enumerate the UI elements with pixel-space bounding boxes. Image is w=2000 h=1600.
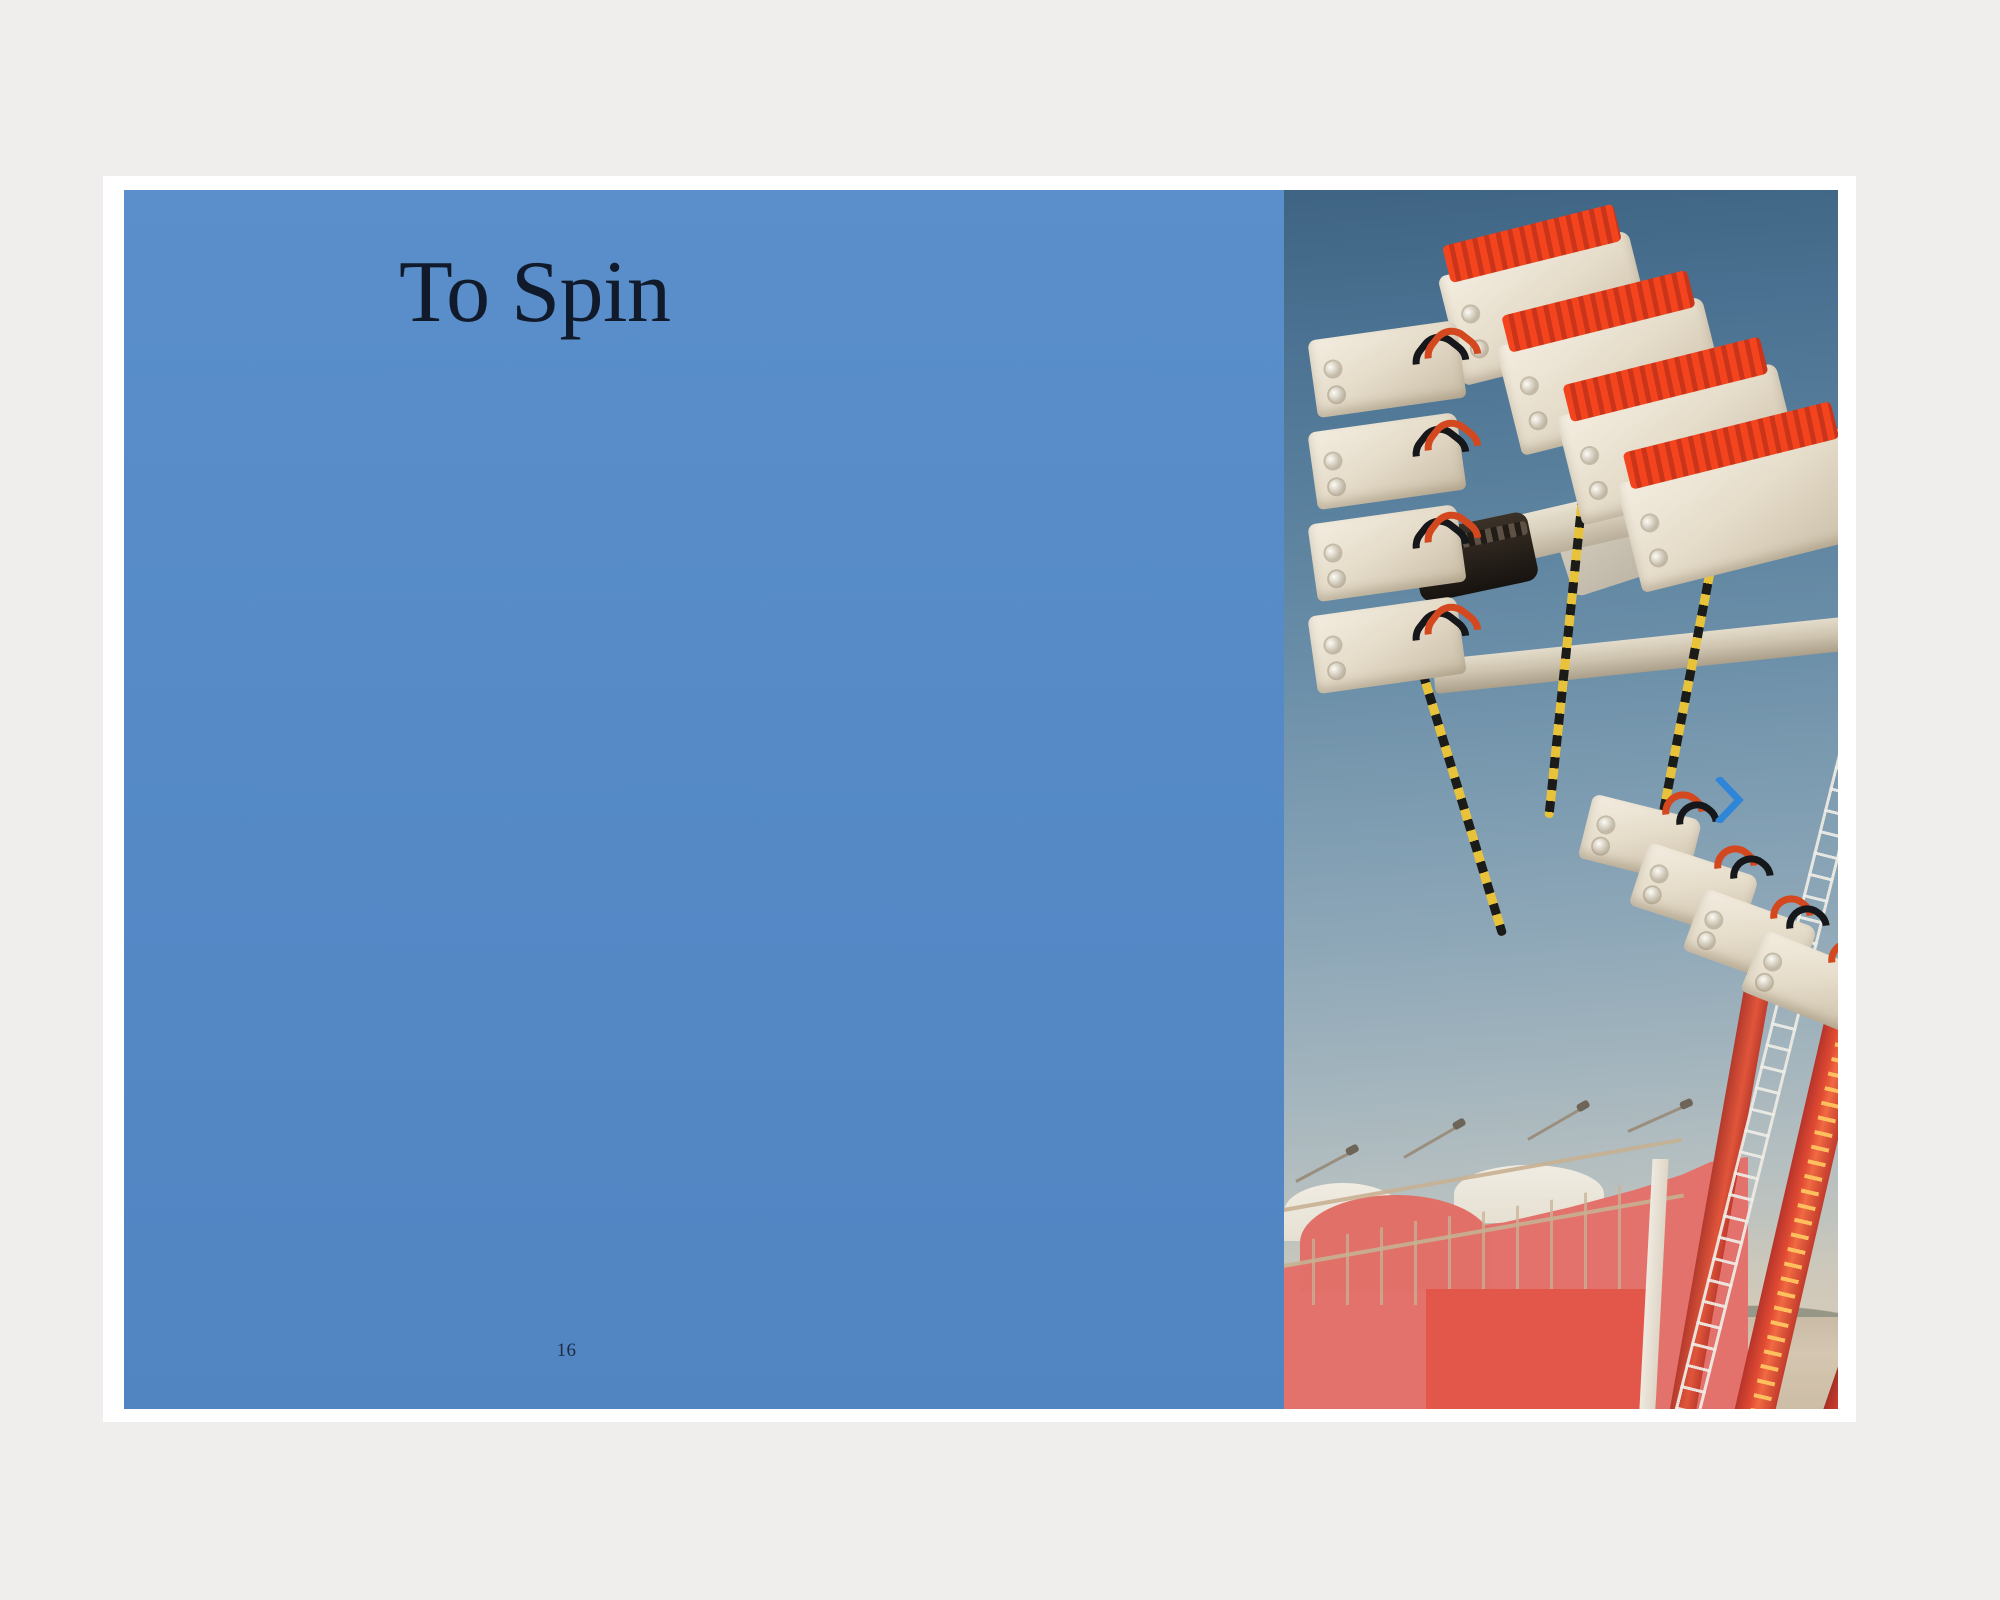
right-page-photo[interactable] [1284, 190, 1838, 1409]
gondola-bolt [1597, 816, 1615, 834]
gondola-bolt [1697, 931, 1716, 950]
gondola-bolt [1328, 386, 1345, 403]
gondola-bolt [1589, 481, 1607, 499]
gondola-cluster-lower [1614, 710, 1838, 1050]
gondola-bolt [1328, 478, 1345, 495]
gondola-bolt [1581, 446, 1599, 464]
gondola-bolt [1325, 453, 1342, 470]
gondola-bolt [1325, 545, 1342, 562]
gondola-bolt [1592, 837, 1610, 855]
gondola-bolt [1755, 973, 1775, 993]
chevron-right-icon [1715, 777, 1745, 823]
page-spread: To Spin 16 [124, 190, 1838, 1409]
book-viewer: To Spin 16 [0, 0, 2000, 1600]
gondola-bolt [1325, 637, 1342, 654]
gondola-bolt [1325, 361, 1342, 378]
next-page-button[interactable] [1708, 769, 1752, 831]
chapter-title: To Spin [399, 248, 671, 338]
gondola-bolt [1704, 910, 1723, 929]
gondola-cluster-left [1306, 330, 1536, 730]
gondola-bolt [1328, 662, 1345, 679]
left-page[interactable]: To Spin 16 [124, 190, 1284, 1409]
gondola-bolt [1650, 864, 1669, 883]
gondola-bolt [1649, 549, 1667, 567]
gondola-bolt [1328, 570, 1345, 587]
gondola-bolt [1641, 514, 1659, 532]
gondola-bolt [1462, 305, 1480, 323]
page-number-value: 16 [557, 1340, 577, 1362]
page-number: 16 [124, 1340, 1284, 1362]
left-page-background [124, 190, 1284, 1409]
gondola-bolt [1643, 885, 1662, 904]
gondola-bolt [1763, 952, 1783, 972]
